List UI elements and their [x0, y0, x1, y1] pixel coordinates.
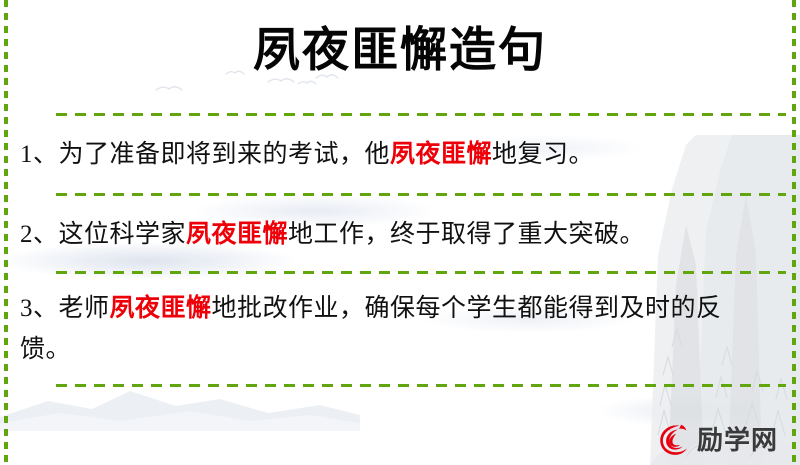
sentence-index: 2、	[20, 221, 59, 248]
sentence-text-before: 为了准备即将到来的考试，他	[59, 141, 391, 168]
flame-swirl-icon	[656, 423, 690, 457]
logo-text: 励学网	[697, 427, 778, 453]
dashed-separator	[56, 384, 786, 387]
sentence-text-after: 地工作，终于取得了重大突破。	[288, 221, 645, 248]
site-logo[interactable]: 励学网	[656, 423, 778, 457]
dashed-separator	[56, 113, 786, 116]
sentence-item: 3、老师夙夜匪懈地批改作业，确保每个学生都能得到及时的反馈。	[20, 288, 772, 370]
page-title: 夙夜匪懈造句	[0, 24, 800, 79]
sentence-text-before: 老师	[59, 295, 110, 322]
sentence-card: 夙夜匪懈造句 1、为了准备即将到来的考试，他夙夜匪懈地复习。 2、这位科学家夙夜…	[0, 0, 800, 465]
idiom-highlight: 夙夜匪懈	[186, 221, 288, 248]
idiom-highlight: 夙夜匪懈	[110, 295, 212, 322]
sentence-index: 3、	[20, 295, 59, 322]
sentence-item: 2、这位科学家夙夜匪懈地工作，终于取得了重大突破。	[20, 214, 772, 255]
distant-hill-watermark	[0, 361, 360, 431]
sentence-item: 1、为了准备即将到来的考试，他夙夜匪懈地复习。	[20, 134, 772, 175]
sentence-index: 1、	[20, 141, 59, 168]
sentence-text-after: 地复习。	[492, 141, 594, 168]
sentence-text-before: 这位科学家	[59, 221, 187, 248]
idiom-highlight: 夙夜匪懈	[390, 141, 492, 168]
dashed-separator	[56, 193, 786, 196]
dashed-separator	[56, 271, 786, 274]
